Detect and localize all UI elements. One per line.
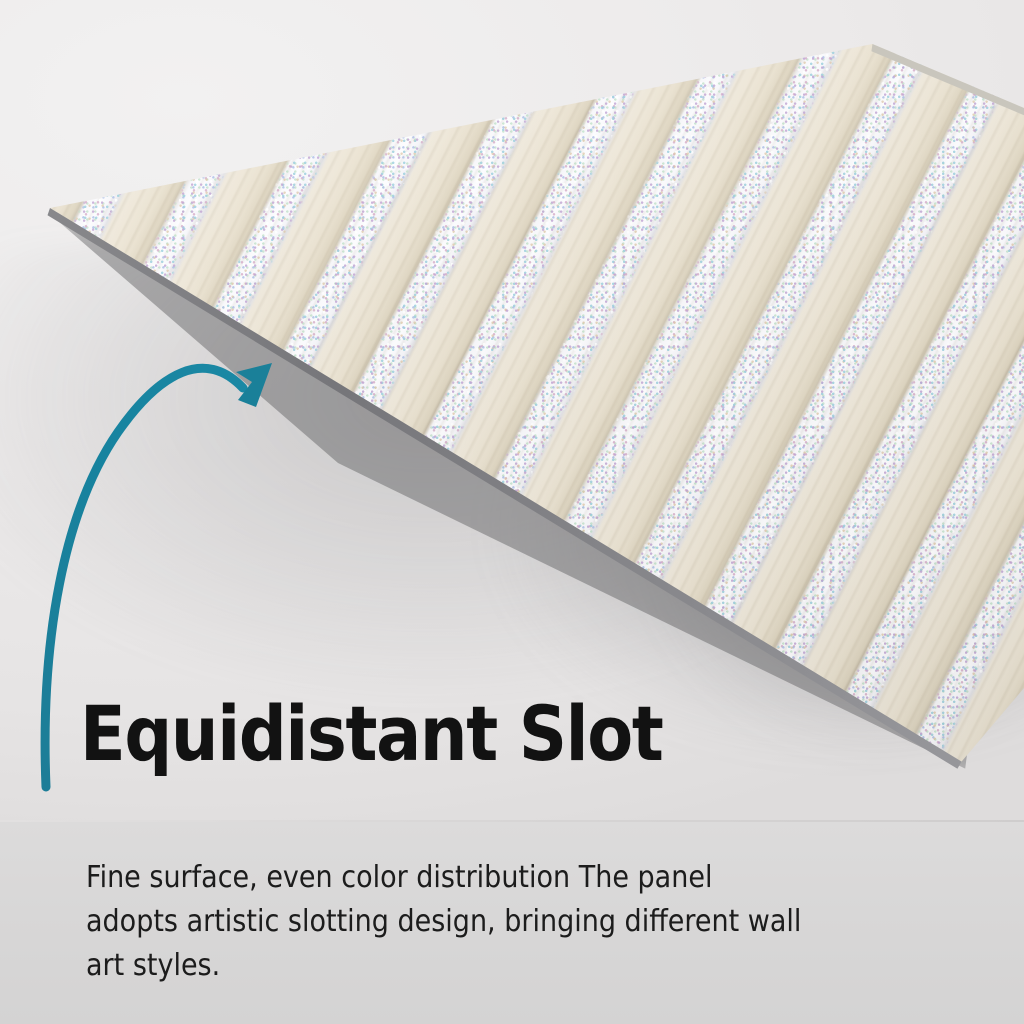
caption-text: Fine surface, even color distribution Th…: [86, 856, 806, 988]
product-feature-image: Equidistant Slot Fine surface, even colo…: [0, 0, 1024, 1024]
page-title: Equidistant Slot: [80, 694, 663, 774]
